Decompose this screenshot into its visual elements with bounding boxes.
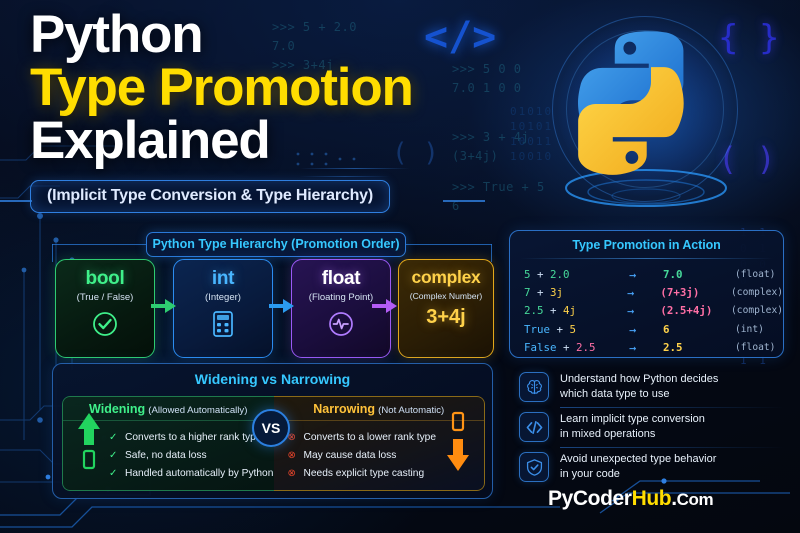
takeaway-line2: in your code bbox=[560, 467, 716, 482]
header-block: Python Type Promotion Explained (Implici… bbox=[30, 10, 470, 213]
promotion-arrow-glyph: → bbox=[629, 339, 663, 357]
promotion-type: (float) bbox=[735, 339, 775, 357]
promotion-arrow-glyph: → bbox=[629, 266, 663, 284]
promotion-expression: True + 5 bbox=[524, 321, 629, 339]
brand-logo[interactable]: PyCoderHub.Com bbox=[548, 487, 713, 511]
brand-part2: Hub bbox=[632, 487, 672, 510]
subtitle-pill: (Implicit Type Conversion & Type Hierarc… bbox=[30, 180, 390, 213]
list-item-label: Handled automatically by Python bbox=[125, 467, 273, 480]
takeaway-text: Learn implicit type conversion in mixed … bbox=[560, 412, 705, 442]
takeaway-text: Understand how Python decides which data… bbox=[560, 372, 718, 402]
promotion-panel: Type Promotion in Action 5 + 2.0 → 7.0 (… bbox=[509, 230, 784, 358]
page-title-line3: Explained bbox=[30, 116, 470, 167]
promotion-row: True + 5 → 6 (int) bbox=[524, 321, 783, 339]
narrowing-note: (Not Automatic) bbox=[378, 405, 444, 416]
type-card-sub: (Complex Number) bbox=[410, 291, 483, 301]
cross-circle-icon: ⊗ bbox=[288, 467, 304, 480]
vs-badge: VS bbox=[252, 409, 290, 447]
infographic-canvas: >>> 5 + 2.0 7.0 >>> 3+4j </> 01010 10101… bbox=[0, 0, 800, 533]
takeaway-line1: Understand how Python decides bbox=[560, 372, 718, 387]
brand-part1: PyCoder bbox=[548, 487, 632, 510]
takeaway-line1: Learn implicit type conversion bbox=[560, 412, 705, 427]
widening-note: (Allowed Automatically) bbox=[148, 405, 247, 416]
list-item-label: Converts to a lower rank type bbox=[304, 431, 437, 444]
up-arrow-icon bbox=[77, 411, 101, 471]
promotion-result: 6 bbox=[663, 321, 735, 339]
widening-column: Widening (Allowed Automatically) ✓ Conve… bbox=[62, 396, 274, 491]
type-card-value: 3+4j bbox=[426, 306, 465, 329]
check-icon: ✓ bbox=[109, 467, 125, 480]
shield-check-icon bbox=[519, 452, 549, 482]
promotion-type: (float) bbox=[735, 266, 775, 284]
list-item-label: Safe, no data loss bbox=[125, 449, 207, 462]
type-card-name: bool bbox=[86, 269, 125, 288]
promotion-arrow-1-icon bbox=[151, 298, 177, 314]
promotion-result: (7+3j) bbox=[660, 284, 731, 302]
promotion-arrow-glyph: → bbox=[629, 321, 663, 339]
type-card-complex[interactable]: complex (Complex Number) 3+4j bbox=[398, 259, 494, 358]
list-item-label: Needs explicit type casting bbox=[304, 467, 425, 480]
hierarchy-wing-left bbox=[52, 244, 146, 245]
promotion-expression: 5 + 2.0 bbox=[524, 266, 629, 284]
promotion-panel-title: Type Promotion in Action bbox=[510, 231, 783, 258]
code-icon bbox=[519, 412, 549, 442]
waveform-circle-icon bbox=[327, 310, 355, 338]
type-card-sub: (Integer) bbox=[205, 292, 241, 303]
promotion-row: 2.5 + 4j → (2.5+4j) (complex) bbox=[524, 302, 783, 320]
promotion-row: False + 2.5 → 2.5 (float) bbox=[524, 339, 783, 357]
check-icon: ✓ bbox=[109, 431, 125, 444]
type-card-sub: (Floating Point) bbox=[309, 292, 373, 303]
list-item-label: Converts to a higher rank type bbox=[125, 431, 261, 444]
promotion-expression: False + 2.5 bbox=[524, 339, 629, 357]
widening-narrowing-title: Widening vs Narrowing bbox=[53, 364, 492, 387]
takeaway-line2: which data type to use bbox=[560, 387, 718, 402]
check-circle-icon bbox=[91, 310, 119, 338]
hierarchy-title: Python Type Hierarchy (Promotion Order) bbox=[146, 232, 406, 257]
page-title-line2: Type Promotion bbox=[30, 63, 470, 114]
promotion-expression: 2.5 + 4j bbox=[524, 302, 627, 320]
promotion-type: (complex) bbox=[731, 302, 783, 320]
narrowing-heading: Narrowing bbox=[313, 402, 375, 416]
type-card-bool[interactable]: bool (True / False) bbox=[55, 259, 155, 358]
hierarchy-wing-right bbox=[406, 244, 492, 245]
brain-icon bbox=[519, 372, 549, 402]
promotion-result: (2.5+4j) bbox=[660, 302, 731, 320]
type-card-sub: (True / False) bbox=[77, 292, 134, 303]
list-item: Understand how Python decides which data… bbox=[519, 368, 785, 407]
promotion-rows: 5 + 2.0 → 7.0 (float) 7 + 3j → (7+3j) (c… bbox=[510, 259, 783, 357]
brand-tld: Com bbox=[677, 490, 714, 509]
promotion-arrow-2-icon bbox=[269, 298, 295, 314]
promotion-type: (complex) bbox=[731, 284, 783, 302]
type-card-name: float bbox=[322, 269, 361, 288]
narrowing-column: Narrowing (Not Automatic) ⊗ Converts to … bbox=[274, 396, 486, 491]
takeaways-list: Understand how Python decides which data… bbox=[519, 368, 785, 487]
promotion-row: 7 + 3j → (7+3j) (complex) bbox=[524, 284, 783, 302]
promotion-arrow-glyph: → bbox=[627, 284, 660, 302]
hierarchy-wing-left-stem bbox=[52, 244, 53, 262]
promotion-type: (int) bbox=[735, 321, 764, 339]
python-logo bbox=[540, 12, 750, 217]
type-card-int[interactable]: int (Integer) bbox=[173, 259, 273, 358]
cross-circle-icon: ⊗ bbox=[288, 431, 304, 444]
python-logo-icon bbox=[568, 28, 722, 180]
calculator-icon bbox=[210, 310, 236, 338]
list-item: Learn implicit type conversion in mixed … bbox=[519, 408, 785, 447]
page-title-line1: Python bbox=[30, 10, 470, 61]
takeaway-line2: in mixed operations bbox=[560, 427, 705, 442]
promotion-row: 5 + 2.0 → 7.0 (float) bbox=[524, 266, 783, 284]
promotion-arrow-3-icon bbox=[372, 298, 398, 314]
subtitle-wing-left bbox=[0, 200, 32, 202]
takeaway-line1: Avoid unexpected type behavior bbox=[560, 452, 716, 467]
list-item-label: May cause data loss bbox=[304, 449, 397, 462]
takeaway-text: Avoid unexpected type behavior in your c… bbox=[560, 452, 716, 482]
promotion-expression: 7 + 3j bbox=[524, 284, 627, 302]
promotion-arrow-glyph: → bbox=[627, 302, 660, 320]
type-card-name: int bbox=[212, 269, 234, 288]
type-card-name: complex bbox=[412, 269, 481, 287]
hierarchy-wing-right-stem bbox=[491, 244, 492, 262]
promotion-result: 2.5 bbox=[663, 339, 735, 357]
down-arrow-icon bbox=[446, 411, 470, 473]
check-icon: ✓ bbox=[109, 449, 125, 462]
cross-circle-icon: ⊗ bbox=[288, 449, 304, 462]
promotion-result: 7.0 bbox=[663, 266, 735, 284]
list-item: Avoid unexpected type behavior in your c… bbox=[519, 448, 785, 487]
